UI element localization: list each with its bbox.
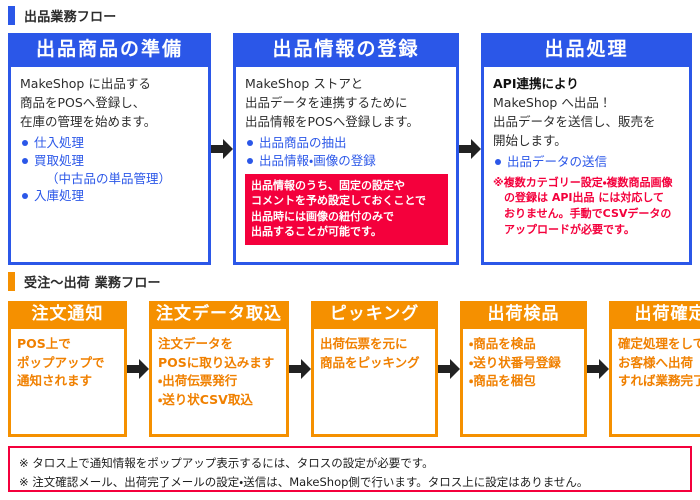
footer-note-box: ※ タロス上で通知情報をポップアップ表示するには、タロスの設定が必要です。 ※ … bbox=[8, 446, 692, 492]
listing-step-3-note: ※複数カテゴリー設定・複数商品画像 の登録は API出品 には対応して おりませ… bbox=[493, 175, 681, 237]
listing-step-2-description: MakeShop ストアと 出品データを連携するために 出品情報をPOSへ登録し… bbox=[245, 74, 448, 131]
list-item: 出品情報・画像の登録 bbox=[245, 152, 448, 170]
listing-step-3-bullet-list: 出品データの送信 bbox=[493, 153, 681, 171]
fulfillment-flow-row: 注文通知 POS上で ポップアップで 通知されます 注文データ取込 注文データを… bbox=[8, 301, 692, 437]
listing-step-3-description-body: MakeShop へ出品！ 出品データを送信し、販売を 開始します。 bbox=[493, 95, 656, 148]
right-arrow-icon bbox=[587, 301, 609, 437]
listing-step-2-callout: 出品情報のうち、固定の設定や コメントを予め設定しておくことで 出品時には画像の… bbox=[245, 174, 448, 245]
list-item: 入庫処理 bbox=[20, 187, 200, 205]
fulfillment-step-5-header: 出荷確定 bbox=[612, 301, 700, 329]
listing-step-2-header: 出品情報の登録 bbox=[236, 33, 456, 67]
listing-flow-row: 出品商品の準備 MakeShop に出品する 商品をPOSへ登録し、 在庫の管理… bbox=[8, 33, 692, 265]
right-arrow-icon bbox=[211, 33, 233, 265]
fulfillment-step-3-body: 出荷伝票を元に 商品をピッキング bbox=[314, 329, 435, 434]
listing-accent-bar bbox=[8, 6, 15, 25]
fulfillment-step-2-text: 注文データを POSに取り込みます ・出荷伝票発行 ・送り状CSV取込 bbox=[158, 335, 281, 409]
list-item: 仕入処理 bbox=[20, 134, 200, 152]
listing-step-3-description-lead: API連携により bbox=[493, 76, 579, 91]
listing-section-title: 出品業務フロー bbox=[8, 6, 116, 25]
note-text: 複数カテゴリー設定・複数商品画像 の登録は API出品 には対応して おりません… bbox=[504, 176, 673, 236]
right-arrow-icon bbox=[289, 301, 311, 437]
listing-step-3-body: API連携により MakeShop へ出品！ 出品データを送信し、販売を 開始し… bbox=[484, 67, 689, 262]
right-arrow-icon bbox=[459, 33, 481, 265]
listing-step-2-bullet-list: 出品商品の抽出 出品情報・画像の登録 bbox=[245, 134, 448, 170]
fulfillment-step-1-body: POS上で ポップアップで 通知されます bbox=[11, 329, 124, 434]
fulfillment-step-3-header: ピッキング bbox=[314, 301, 435, 329]
fulfillment-step-2-card[interactable]: 注文データ取込 注文データを POSに取り込みます ・出荷伝票発行 ・送り状CS… bbox=[149, 301, 289, 437]
list-item: （中古品の単品管理） bbox=[20, 170, 200, 188]
list-item: 出品データの送信 bbox=[493, 153, 681, 171]
fulfillment-step-3-card[interactable]: ピッキング 出荷伝票を元に 商品をピッキング bbox=[311, 301, 438, 437]
fulfillment-accent-bar bbox=[8, 272, 15, 291]
fulfillment-step-5-body: 確定処理をして お客様へ出荷 すれば業務完了 bbox=[612, 329, 700, 434]
flow-diagram-page: 出品業務フロー 出品商品の準備 MakeShop に出品する 商品をPOSへ登録… bbox=[0, 0, 700, 500]
fulfillment-step-4-card[interactable]: 出荷検品 ・商品を検品 ・送り状番号登録 ・商品を梱包 bbox=[460, 301, 587, 437]
fulfillment-step-1-header: 注文通知 bbox=[11, 301, 124, 329]
fulfillment-step-1-text: POS上で ポップアップで 通知されます bbox=[17, 335, 119, 391]
fulfillment-step-5-card[interactable]: 出荷確定 確定処理をして お客様へ出荷 すれば業務完了 bbox=[609, 301, 700, 437]
list-item: 買取処理 bbox=[20, 152, 200, 170]
listing-step-1-description: MakeShop に出品する 商品をPOSへ登録し、 在庫の管理を始めます。 bbox=[20, 74, 200, 131]
footer-note-line-2: ※ 注文確認メール、出荷完了メールの設定・送信は、MakeShop側で行います。… bbox=[19, 473, 681, 492]
footer-note-line-1: ※ タロス上で通知情報をポップアップ表示するには、タロスの設定が必要です。 bbox=[19, 454, 681, 473]
fulfillment-step-2-body: 注文データを POSに取り込みます ・出荷伝票発行 ・送り状CSV取込 bbox=[152, 329, 286, 434]
listing-section-label: 出品業務フロー bbox=[24, 6, 116, 25]
listing-step-1-header: 出品商品の準備 bbox=[11, 33, 208, 67]
listing-step-3-card[interactable]: 出品処理 API連携により MakeShop へ出品！ 出品データを送信し、販売… bbox=[481, 33, 692, 265]
fulfillment-step-2-header: 注文データ取込 bbox=[152, 301, 286, 329]
fulfillment-step-4-text: ・商品を検品 ・送り状番号登録 ・商品を梱包 bbox=[469, 335, 579, 391]
fulfillment-step-3-text: 出荷伝票を元に 商品をピッキング bbox=[320, 335, 430, 372]
fulfillment-step-4-header: 出荷検品 bbox=[463, 301, 584, 329]
listing-step-3-header: 出品処理 bbox=[484, 33, 689, 67]
listing-step-1-card[interactable]: 出品商品の準備 MakeShop に出品する 商品をPOSへ登録し、 在庫の管理… bbox=[8, 33, 211, 265]
listing-step-1-body: MakeShop に出品する 商品をPOSへ登録し、 在庫の管理を始めます。 仕… bbox=[11, 67, 208, 262]
right-arrow-icon bbox=[127, 301, 149, 437]
right-arrow-icon bbox=[438, 301, 460, 437]
list-item: 出品商品の抽出 bbox=[245, 134, 448, 152]
listing-step-2-body: MakeShop ストアと 出品データを連携するために 出品情報をPOSへ登録し… bbox=[236, 67, 456, 262]
listing-step-1-bullet-list: 仕入処理 買取処理 （中古品の単品管理） 入庫処理 bbox=[20, 134, 200, 205]
fulfillment-step-5-text: 確定処理をして お客様へ出荷 すれば業務完了 bbox=[618, 335, 700, 391]
fulfillment-section-label: 受注～出荷 業務フロー bbox=[24, 272, 161, 291]
fulfillment-step-1-card[interactable]: 注文通知 POS上で ポップアップで 通知されます bbox=[8, 301, 127, 437]
listing-step-2-card[interactable]: 出品情報の登録 MakeShop ストアと 出品データを連携するために 出品情報… bbox=[233, 33, 459, 265]
note-mark: ※ bbox=[493, 176, 504, 189]
fulfillment-section-title: 受注～出荷 業務フロー bbox=[8, 272, 161, 291]
fulfillment-step-4-body: ・商品を検品 ・送り状番号登録 ・商品を梱包 bbox=[463, 329, 584, 434]
listing-step-3-description: API連携により MakeShop へ出品！ 出品データを送信し、販売を 開始し… bbox=[493, 74, 681, 150]
